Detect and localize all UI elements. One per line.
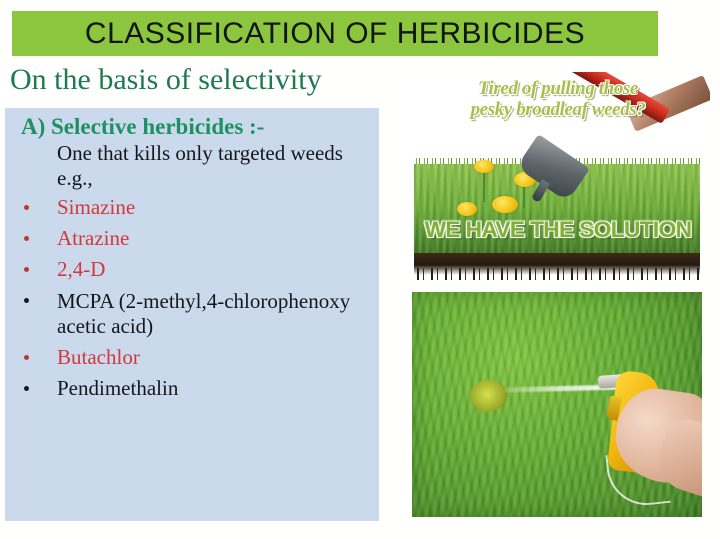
list-item-label: Butachlor: [57, 345, 140, 369]
list-item-label: 2,4-D: [57, 257, 105, 281]
weed-pull-image: Tired of pulling those pesky broadleaf w…: [404, 72, 710, 280]
list-item: MCPA (2-methyl,4-chlorophenoxy acetic ac…: [13, 289, 371, 339]
dandelion-flower-icon: [492, 196, 518, 213]
dandelion-stem: [483, 168, 485, 202]
list-item-label: Pendimethalin: [57, 376, 178, 400]
bullet-icon: [24, 236, 29, 241]
list-item-label: Simazine: [57, 195, 135, 219]
list-item: Pendimethalin: [13, 376, 371, 401]
target-weed: [470, 380, 508, 412]
image-column: Tired of pulling those pesky broadleaf w…: [404, 72, 710, 527]
slide-title-banner: CLASSIFICATION OF HERBICIDES: [12, 11, 658, 56]
soil-frill: [414, 268, 700, 280]
caption-line-1: Tired of pulling those: [416, 78, 700, 99]
bullet-icon: [24, 386, 29, 391]
list-item: Atrazine: [13, 226, 371, 251]
list-item: Butachlor: [13, 345, 371, 370]
slide-subtitle: On the basis of selectivity: [10, 63, 322, 96]
list-item-label: MCPA (2-methyl,4-chlorophenoxy acetic ac…: [57, 289, 350, 338]
weed-pull-caption: Tired of pulling those pesky broadleaf w…: [416, 78, 700, 121]
spray-bottle-image: [412, 292, 702, 517]
caption-line-2: pesky broadleaf weeds?: [416, 99, 700, 120]
selective-herbicides-panel: A) Selective herbicides :- One that kill…: [5, 108, 379, 521]
list-item: 2,4-D: [13, 257, 371, 282]
section-heading: A) Selective herbicides :-: [21, 114, 371, 140]
hose-tube: [605, 449, 670, 509]
dandelion-flower-icon: [474, 160, 494, 173]
bullet-icon: [24, 267, 29, 272]
list-item-label: Atrazine: [57, 226, 129, 250]
page-title: CLASSIFICATION OF HERBICIDES: [85, 19, 585, 49]
bullet-icon: [24, 205, 29, 210]
solution-caption: WE HAVE THE SOLUTION: [414, 219, 702, 241]
bullet-icon: [24, 355, 29, 360]
list-item: Simazine: [13, 195, 371, 220]
bullet-icon: [24, 298, 29, 303]
section-description: One that kills only targeted weeds e.g.,: [57, 141, 367, 191]
dandelion-flower-icon: [457, 202, 477, 216]
herbicide-list: Simazine Atrazine 2,4-D MCPA (2-methyl,4…: [13, 195, 371, 401]
